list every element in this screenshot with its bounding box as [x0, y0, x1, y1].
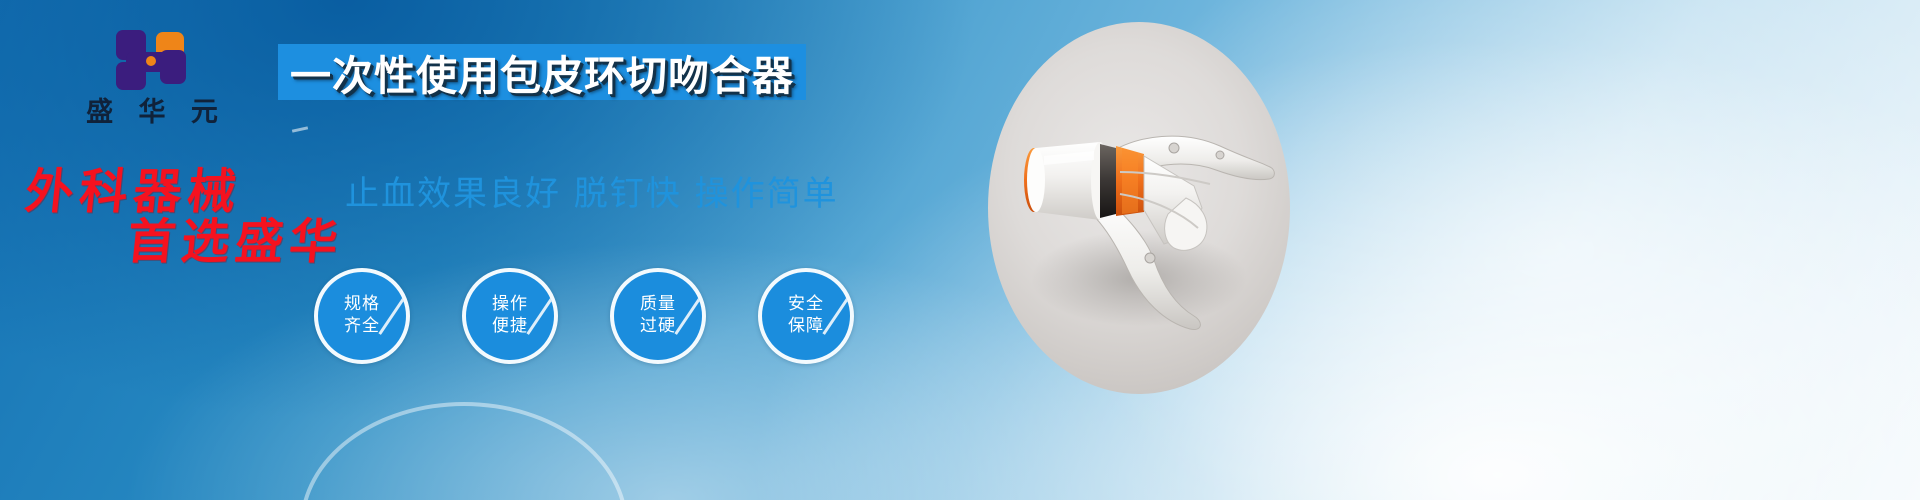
- feature-badge-line-1: 安全: [788, 294, 824, 316]
- decorative-arc: [300, 402, 628, 500]
- slogan-line-2: 首选盛华: [124, 202, 347, 272]
- slash-accent-icon: [822, 295, 850, 335]
- product-subtitle: 止血效果良好 脱钉快 操作简单: [345, 166, 839, 215]
- product-title-bar: 一次性使用包皮环切吻合器: [278, 44, 806, 100]
- feature-badge-line-1: 操作: [492, 294, 528, 316]
- product-photo[interactable]: [988, 22, 1290, 394]
- brand-name: 盛 华 元: [72, 98, 232, 128]
- feature-badge-safety[interactable]: 安全 保障: [758, 268, 854, 364]
- feature-badge-operation[interactable]: 操作 便捷: [462, 268, 558, 364]
- feature-badge-list: 规格 齐全 操作 便捷 质量 过硬 安全 保障: [314, 268, 854, 364]
- feature-badge-line-1: 质量: [640, 294, 676, 316]
- brand-logo[interactable]: 盛 华 元: [72, 30, 232, 128]
- feature-badge-quality[interactable]: 质量 过硬: [610, 268, 706, 364]
- promo-banner: 盛 华 元 一次性使用包皮环切吻合器 外科器械 首选盛华 止血效果良好 脱钉快 …: [0, 0, 1920, 500]
- feature-badge-line-2: 便捷: [492, 316, 528, 338]
- slash-accent-icon: [378, 295, 406, 335]
- decorative-spark: [292, 126, 308, 132]
- slash-accent-icon: [526, 295, 554, 335]
- feature-badge-line-2: 保障: [788, 316, 824, 338]
- feature-badge-line-2: 过硬: [640, 316, 676, 338]
- stapler-device-illustration: [988, 22, 1290, 394]
- feature-badge-line-2: 齐全: [344, 316, 380, 338]
- page-title: 一次性使用包皮环切吻合器: [290, 42, 794, 102]
- shenghuayuan-logo-mark-icon: [116, 30, 188, 90]
- slash-accent-icon: [674, 295, 702, 335]
- feature-badge-specifications[interactable]: 规格 齐全: [314, 268, 410, 364]
- feature-badge-line-1: 规格: [344, 294, 380, 316]
